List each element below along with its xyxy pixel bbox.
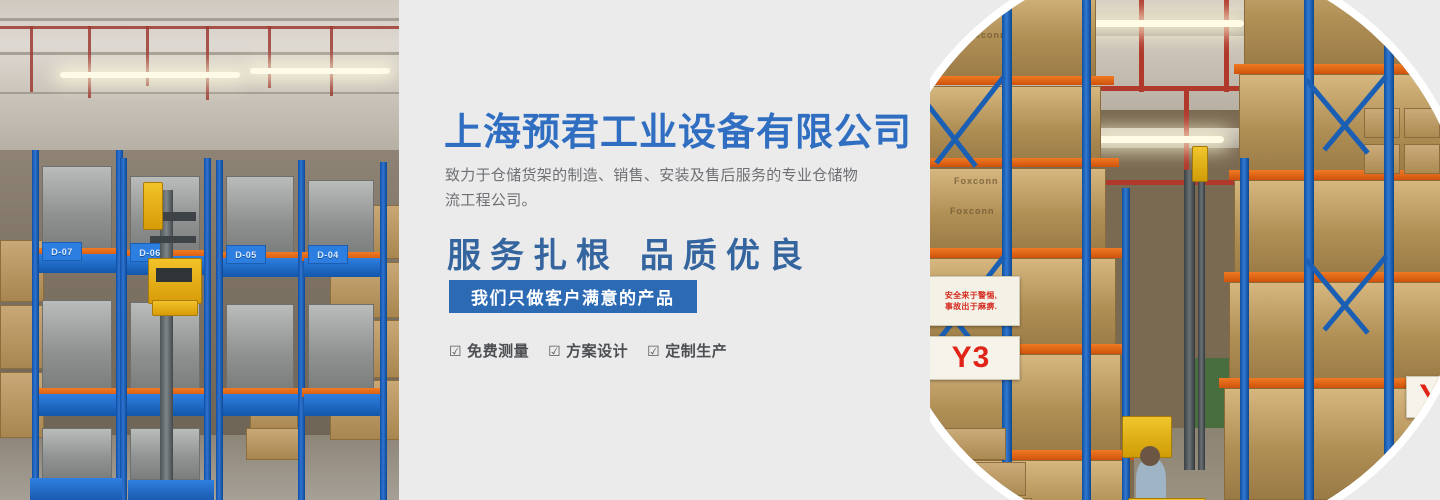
left-warehouse-photo: D-07 D-06 D-05 D-04	[0, 0, 399, 500]
stored-carton	[1404, 108, 1440, 138]
rack-upright	[380, 162, 387, 500]
aisle-label-sign-right: Y3	[1406, 376, 1440, 418]
rack-beam	[1224, 272, 1440, 282]
rack-upright	[1082, 0, 1091, 500]
rack-upright	[1304, 0, 1314, 500]
picker-boom	[143, 182, 163, 230]
ceiling-light	[60, 72, 240, 78]
sprinkler-drop	[30, 26, 33, 92]
plastic-tote-stack	[308, 180, 374, 254]
forklift-backrest	[1192, 146, 1208, 182]
company-headline: 上海预君工业设备有限公司	[444, 101, 912, 156]
rack-location-label: D-07	[42, 242, 82, 261]
stored-carton	[1364, 144, 1400, 174]
rack-upright	[216, 160, 223, 500]
floor-pallet	[30, 478, 122, 500]
rack-beam	[930, 248, 1124, 258]
roof-beam	[0, 18, 399, 21]
picker-platform	[152, 300, 198, 316]
roof-beam	[0, 92, 399, 94]
checkbox-checked-icon: ☑	[647, 344, 660, 358]
sprinkler-drop	[206, 26, 209, 100]
floor-pallet	[930, 462, 1026, 496]
stored-carton	[1364, 108, 1400, 138]
company-slogan: 服务扎根 品质优良	[447, 228, 812, 277]
sprinkler-pipe	[0, 26, 399, 29]
palletized-load	[930, 86, 1101, 164]
rack-upright	[204, 158, 211, 500]
picker-arm	[150, 236, 196, 243]
stored-carton	[246, 428, 302, 460]
feature-item-custom-production: ☑ 定制生产	[647, 340, 727, 361]
sprinkler-drop	[1224, 0, 1229, 92]
palletized-load	[930, 0, 1096, 80]
feature-list: ☑ 免费测量 ☑ 方案设计 ☑ 定制生产	[449, 340, 727, 361]
operator-head	[1140, 446, 1160, 466]
carton-brand-text: Foxconn	[954, 176, 999, 186]
ceiling-light	[250, 68, 390, 74]
carton-brand-text: Foxconn	[950, 206, 995, 216]
picker-window	[156, 268, 192, 282]
safety-sign-line2: 事故出于麻痹.	[945, 301, 997, 312]
feature-item-scheme-design: ☑ 方案设计	[548, 340, 628, 361]
blue-pallet	[38, 394, 118, 416]
sprinkler-drop	[1184, 86, 1189, 182]
rack-upright	[32, 150, 39, 500]
right-warehouse-photo: Foxconn Foxconn Foxconn Foxconn	[930, 0, 1440, 500]
blue-pallet	[304, 394, 380, 416]
feature-item-free-measure: ☑ 免费测量	[449, 340, 529, 361]
forklift-mast	[1184, 170, 1195, 470]
stored-carton	[1404, 144, 1440, 174]
palletized-load	[1234, 180, 1440, 278]
rack-upright	[1240, 158, 1249, 500]
sprinkler-drop	[88, 26, 91, 98]
banner-text-block: 上海预君工业设备有限公司 致力于仓储货架的制造、销售、安装及售后服务的专业仓储物…	[399, 0, 1019, 500]
safety-sign-line1: 安全来于警惕,	[945, 290, 997, 301]
company-subtitle: 致力于仓储货架的制造、销售、安装及售后服务的专业仓储物流工程公司。	[445, 163, 865, 213]
checkbox-checked-icon: ☑	[548, 344, 561, 358]
rack-location-label: D-04	[308, 245, 348, 264]
palletized-load	[1244, 0, 1440, 70]
plastic-tote-stack	[42, 428, 112, 480]
plastic-tote-stack	[42, 300, 112, 390]
feature-label: 方案设计	[566, 340, 628, 361]
floor-pallet	[128, 480, 214, 500]
blue-pallet	[222, 394, 300, 416]
feature-label: 免费测量	[467, 340, 529, 361]
right-photo-wrapper: Foxconn Foxconn Foxconn Foxconn	[930, 0, 1440, 500]
ceiling-light	[1094, 136, 1224, 143]
quality-badge: 我们只做客户满意的产品	[449, 280, 697, 313]
feature-label: 定制生产	[665, 340, 727, 361]
rack-upright	[1002, 0, 1012, 500]
plastic-tote-stack	[42, 166, 112, 250]
rack-beam	[1234, 64, 1440, 74]
sprinkler-drop	[1139, 0, 1144, 92]
aisle-label-sign: Y3	[930, 336, 1020, 380]
roof-beam	[0, 52, 399, 55]
ceiling	[0, 0, 399, 160]
rack-upright	[120, 158, 127, 500]
safety-sign: 安全来于警惕, 事故出于麻痹.	[930, 276, 1020, 326]
rack-upright	[298, 160, 305, 500]
plastic-tote-stack	[226, 304, 294, 390]
ceiling-light	[1074, 20, 1244, 27]
forklift-mast	[1198, 170, 1205, 470]
carton-brand-text: Foxconn	[962, 30, 1007, 40]
checkbox-checked-icon: ☑	[449, 344, 462, 358]
sprinkler-drop	[268, 26, 271, 88]
plastic-tote-stack	[308, 304, 374, 390]
plastic-tote-stack	[226, 176, 294, 254]
sprinkler-drop	[330, 26, 333, 96]
rack-location-label: D-05	[226, 245, 266, 264]
floor-pallet	[930, 428, 1006, 460]
hero-banner: D-07 D-06 D-05 D-04	[0, 0, 1440, 500]
